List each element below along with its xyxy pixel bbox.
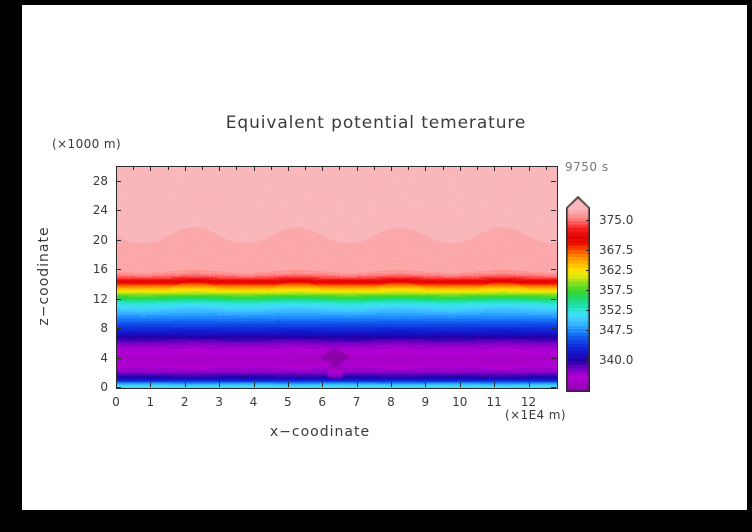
x-tick-label: 11 — [486, 395, 501, 409]
x-tick-mark-top — [494, 166, 495, 171]
x-tick-mark — [529, 382, 530, 387]
colorbar-tick-mark — [586, 290, 590, 291]
y-tick-label: 8 — [82, 321, 108, 335]
border-bottom — [0, 510, 752, 532]
x-tick-label: 4 — [250, 395, 258, 409]
colorbar-gradient — [566, 196, 590, 392]
x-minor-tick-top — [305, 166, 306, 170]
y-tick-mark-right — [551, 181, 556, 182]
y-tick-mark-right — [551, 269, 556, 270]
x-minor-tick-top — [271, 166, 272, 170]
y-axis-units-label: (×1000 m) — [52, 137, 121, 151]
x-tick-mark — [288, 382, 289, 387]
x-tick-mark — [391, 382, 392, 387]
x-tick-mark-top — [460, 166, 461, 171]
y-axis-title: z−coodinate — [36, 196, 52, 356]
y-tick-label: 20 — [82, 233, 108, 247]
y-tick-mark — [116, 240, 121, 241]
y-tick-mark — [116, 269, 121, 270]
x-tick-mark — [494, 382, 495, 387]
x-minor-tick-top — [477, 166, 478, 170]
contour-field-canvas — [117, 167, 557, 388]
x-tick-mark-top — [357, 166, 358, 171]
colorbar-tick-mark — [586, 360, 590, 361]
x-tick-label: 6 — [318, 395, 326, 409]
y-tick-mark — [116, 387, 121, 388]
colorbar-tick-label: 375.0 — [599, 213, 633, 227]
page-title: Equivalent potential temerature — [0, 113, 752, 133]
x-minor-tick-top — [546, 166, 547, 170]
x-tick-label: 5 — [284, 395, 292, 409]
colorbar-tick-mark — [586, 330, 590, 331]
border-right — [747, 0, 752, 532]
x-axis-title: x−coodinate — [0, 424, 640, 440]
x-tick-mark-top — [391, 166, 392, 171]
colorbar-tick-label: 357.5 — [599, 283, 633, 297]
x-minor-tick-top — [339, 166, 340, 170]
x-tick-mark-top — [116, 166, 117, 171]
y-tick-mark-right — [551, 328, 556, 329]
x-minor-tick-top — [236, 166, 237, 170]
y-tick-mark — [116, 210, 121, 211]
x-tick-mark-top — [529, 166, 530, 171]
colorbar-tick-label: 347.5 — [599, 323, 633, 337]
colorbar-tick-mark — [586, 270, 590, 271]
y-tick-mark-right — [551, 387, 556, 388]
x-tick-mark-top — [425, 166, 426, 171]
x-tick-mark-top — [219, 166, 220, 171]
x-tick-mark — [254, 382, 255, 387]
x-tick-mark-top — [185, 166, 186, 171]
x-tick-mark-top — [254, 166, 255, 171]
x-tick-label: 9 — [422, 395, 430, 409]
border-top — [0, 0, 752, 5]
x-tick-mark — [185, 382, 186, 387]
y-tick-label: 12 — [82, 292, 108, 306]
y-tick-label: 16 — [82, 262, 108, 276]
border-left — [0, 0, 22, 532]
y-tick-mark-right — [551, 210, 556, 211]
time-annotation: 9750 s — [565, 160, 609, 174]
colorbar — [566, 196, 590, 392]
y-tick-mark — [116, 358, 121, 359]
x-axis-units-label: (×1E4 m) — [505, 408, 566, 422]
x-tick-mark — [219, 382, 220, 387]
x-tick-mark — [460, 382, 461, 387]
x-tick-label: 8 — [387, 395, 395, 409]
x-tick-mark-top — [150, 166, 151, 171]
figure-root: Equivalent potential temerature (×1000 m… — [0, 0, 752, 532]
x-tick-mark — [357, 382, 358, 387]
x-tick-label: 0 — [112, 395, 120, 409]
x-minor-tick-top — [168, 166, 169, 170]
y-tick-mark — [116, 299, 121, 300]
y-tick-label: 28 — [82, 174, 108, 188]
x-tick-label: 3 — [215, 395, 223, 409]
x-minor-tick-top — [374, 166, 375, 170]
x-tick-mark — [150, 382, 151, 387]
x-tick-mark — [425, 382, 426, 387]
y-tick-label: 24 — [82, 203, 108, 217]
colorbar-tick-mark — [586, 310, 590, 311]
x-tick-mark-top — [322, 166, 323, 171]
x-tick-label: 1 — [147, 395, 155, 409]
x-minor-tick-top — [511, 166, 512, 170]
y-tick-mark-right — [551, 358, 556, 359]
x-minor-tick-top — [202, 166, 203, 170]
x-tick-label: 12 — [521, 395, 536, 409]
x-minor-tick-top — [443, 166, 444, 170]
x-tick-label: 7 — [353, 395, 361, 409]
x-tick-mark-top — [288, 166, 289, 171]
colorbar-tick-mark — [586, 250, 590, 251]
colorbar-tick-mark — [586, 220, 590, 221]
y-tick-label: 0 — [82, 380, 108, 394]
colorbar-tick-label: 362.5 — [599, 263, 633, 277]
colorbar-tick-label: 352.5 — [599, 303, 633, 317]
x-minor-tick-top — [408, 166, 409, 170]
y-tick-mark-right — [551, 299, 556, 300]
contour-plot-area — [116, 166, 558, 389]
colorbar-tick-label: 367.5 — [599, 243, 633, 257]
y-tick-mark — [116, 328, 121, 329]
x-tick-mark — [322, 382, 323, 387]
y-tick-mark — [116, 181, 121, 182]
x-tick-label: 10 — [452, 395, 467, 409]
y-tick-mark-right — [551, 240, 556, 241]
y-tick-label: 4 — [82, 351, 108, 365]
x-minor-tick-top — [133, 166, 134, 170]
x-tick-label: 2 — [181, 395, 189, 409]
colorbar-tick-label: 340.0 — [599, 353, 633, 367]
